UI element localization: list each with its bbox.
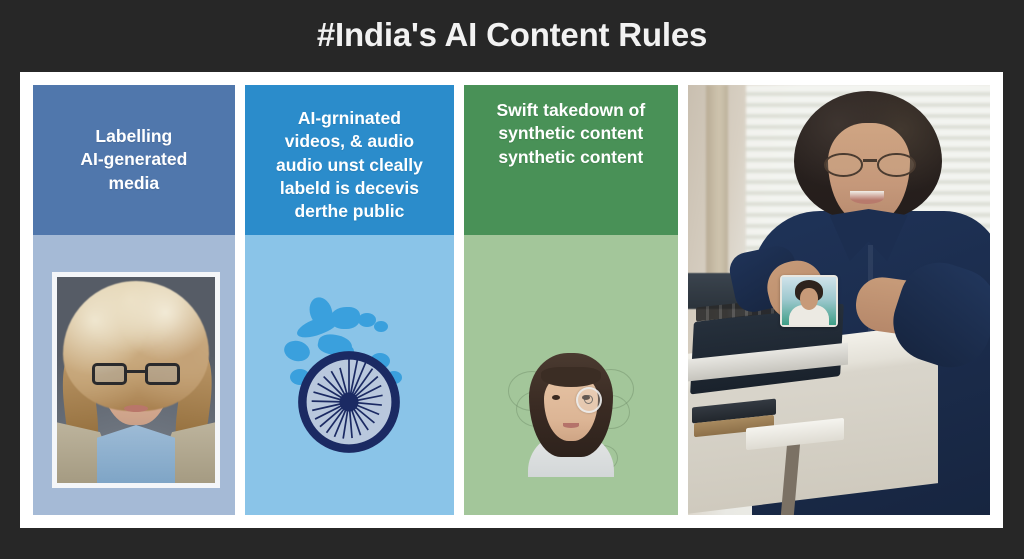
chakra-illustration: [274, 295, 424, 455]
child-mouth: [563, 423, 579, 428]
panel-disclosure-header-text: AI-grninated videos, & audio audio unst …: [276, 107, 423, 223]
portrait-glasses-icon: [92, 363, 180, 385]
splash-blob: [374, 321, 388, 332]
portrait-photo-woman-curly-hair-glasses: [57, 277, 215, 483]
photo-smile: [850, 191, 884, 204]
panel-disclosure: AI-grninated videos, & audio audio unst …: [245, 85, 454, 515]
panel-takedown-header-text: Swift takedown of synthetic content synt…: [496, 99, 645, 169]
panel-takedown-header: Swift takedown of synthetic content synt…: [464, 85, 677, 235]
panel-disclosure-header: AI-grninated videos, & audio audio unst …: [245, 85, 454, 235]
page-title: #India's AI Content Rules: [317, 16, 707, 54]
portrait-hair-top: [63, 281, 209, 411]
photo-lens-left: [824, 153, 863, 177]
monocle-lens-icon: [576, 387, 602, 413]
photo-lens-right: [877, 153, 916, 177]
portrait-shirt: [97, 425, 175, 483]
portrait-glasses-bridge: [127, 370, 145, 373]
portrait-mouth: [124, 405, 148, 412]
infographic-card: Labelling AI-generated media: [20, 72, 1003, 528]
panel-labelling-header-text: Labelling AI-generated media: [80, 125, 187, 195]
photo-woman-holding-card: [688, 85, 990, 515]
portrait-lens-right: [145, 363, 180, 385]
panel-disclosure-body: [245, 235, 454, 515]
splash-blob: [330, 307, 360, 329]
photo-glasses-icon: [824, 153, 916, 177]
panel-takedown-body: [464, 235, 677, 515]
photo-glasses-bridge: [863, 159, 877, 162]
panel-labelling: Labelling AI-generated media: [33, 85, 235, 515]
child-eye-left: [552, 395, 560, 400]
portrait-photo-frame: [52, 272, 220, 488]
panel-photo: [688, 85, 990, 515]
panel-labelling-header: Labelling AI-generated media: [33, 85, 235, 235]
ashoka-chakra-icon: [296, 349, 402, 455]
child-bangs: [541, 367, 601, 387]
title-bar: #India's AI Content Rules: [0, 0, 1024, 70]
photo-printed-card: [780, 275, 838, 327]
child-photo-illustration: [506, 347, 636, 477]
photo-card-image: [782, 277, 836, 325]
panel-labelling-body: [33, 235, 235, 515]
photo-card-person-face: [800, 288, 818, 310]
portrait-lens-left: [92, 363, 127, 385]
panel-takedown: Swift takedown of synthetic content synt…: [464, 85, 677, 515]
